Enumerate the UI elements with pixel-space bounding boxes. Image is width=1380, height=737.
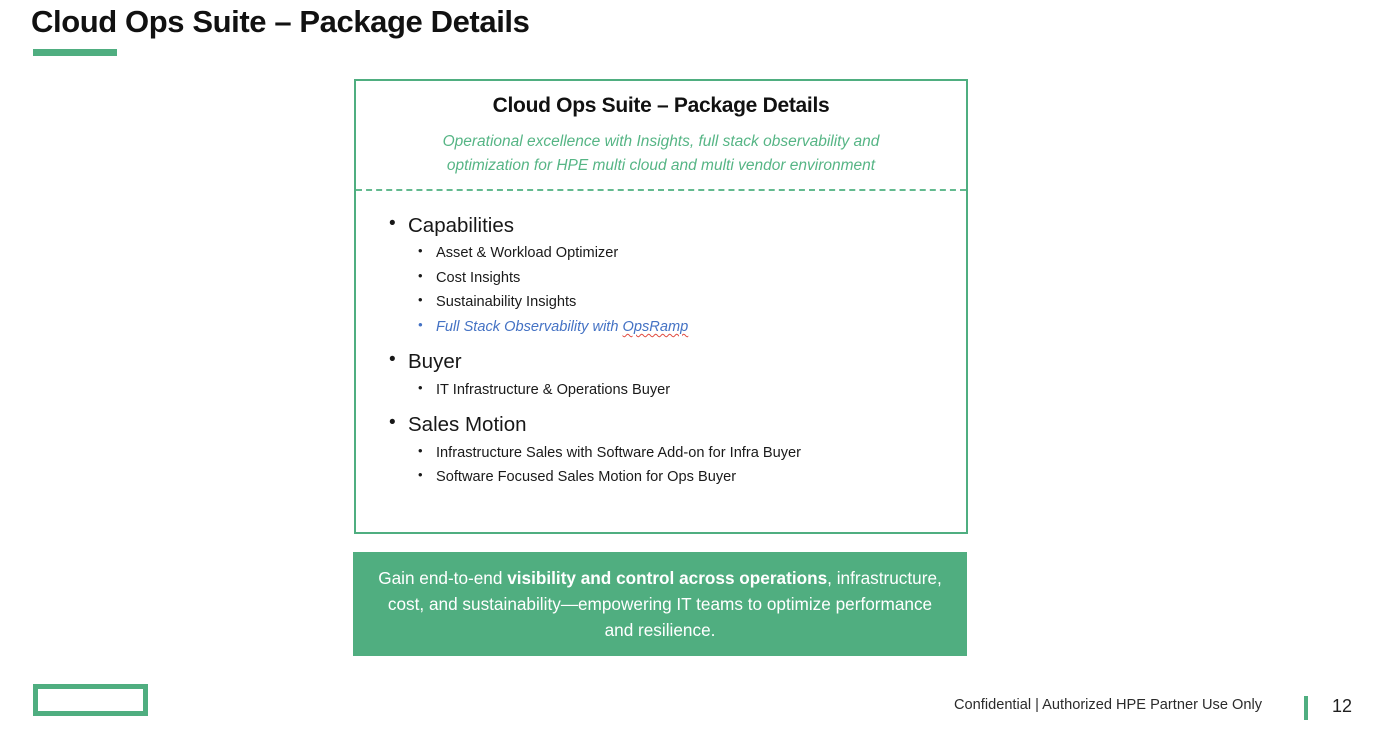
section-heading-sales-motion: Sales Motion xyxy=(356,410,966,440)
title-accent-rule xyxy=(33,49,117,56)
page-title: Cloud Ops Suite – Package Details xyxy=(31,4,529,40)
package-details-card: Cloud Ops Suite – Package Details Operat… xyxy=(354,79,968,534)
list-item: Software Focused Sales Motion for Ops Bu… xyxy=(356,465,966,490)
footer-separator xyxy=(1304,696,1308,720)
list-item: Cost Insights xyxy=(356,266,966,291)
section-spacer xyxy=(356,402,966,408)
callout-bold-phrase: visibility and control across operations xyxy=(507,568,827,588)
page-number: 12 xyxy=(1332,696,1352,717)
section-heading-buyer: Buyer xyxy=(356,347,966,377)
list-item: Asset & Workload Optimizer xyxy=(356,241,966,266)
slide-canvas: Cloud Ops Suite – Package Details Cloud … xyxy=(0,0,1380,737)
list-item: Infrastructure Sales with Software Add-o… xyxy=(356,441,966,466)
section-heading-capabilities: Capabilities xyxy=(356,211,966,241)
section-spacer xyxy=(356,339,966,345)
callout-lead: Gain end-to-end xyxy=(378,568,507,588)
capabilities-list: Capabilities Asset & Workload Optimizer … xyxy=(356,191,966,490)
card-subtitle: Operational excellence with Insights, fu… xyxy=(356,130,966,177)
value-callout-box: Gain end-to-end visibility and control a… xyxy=(353,552,967,656)
list-item-opsramp-link[interactable]: Full Stack Observability with OpsRamp xyxy=(356,315,966,340)
confidential-notice: Confidential | Authorized HPE Partner Us… xyxy=(954,697,1262,713)
list-item: Sustainability Insights xyxy=(356,290,966,315)
callout-text: Gain end-to-end visibility and control a… xyxy=(375,565,945,643)
hpe-logo xyxy=(33,684,148,716)
misspelled-word-opsramp: OpsRamp xyxy=(623,319,689,335)
list-item: IT Infrastructure & Operations Buyer xyxy=(356,378,966,403)
card-title: Cloud Ops Suite – Package Details xyxy=(356,94,966,118)
link-text-prefix: Full Stack Observability with xyxy=(436,319,623,335)
